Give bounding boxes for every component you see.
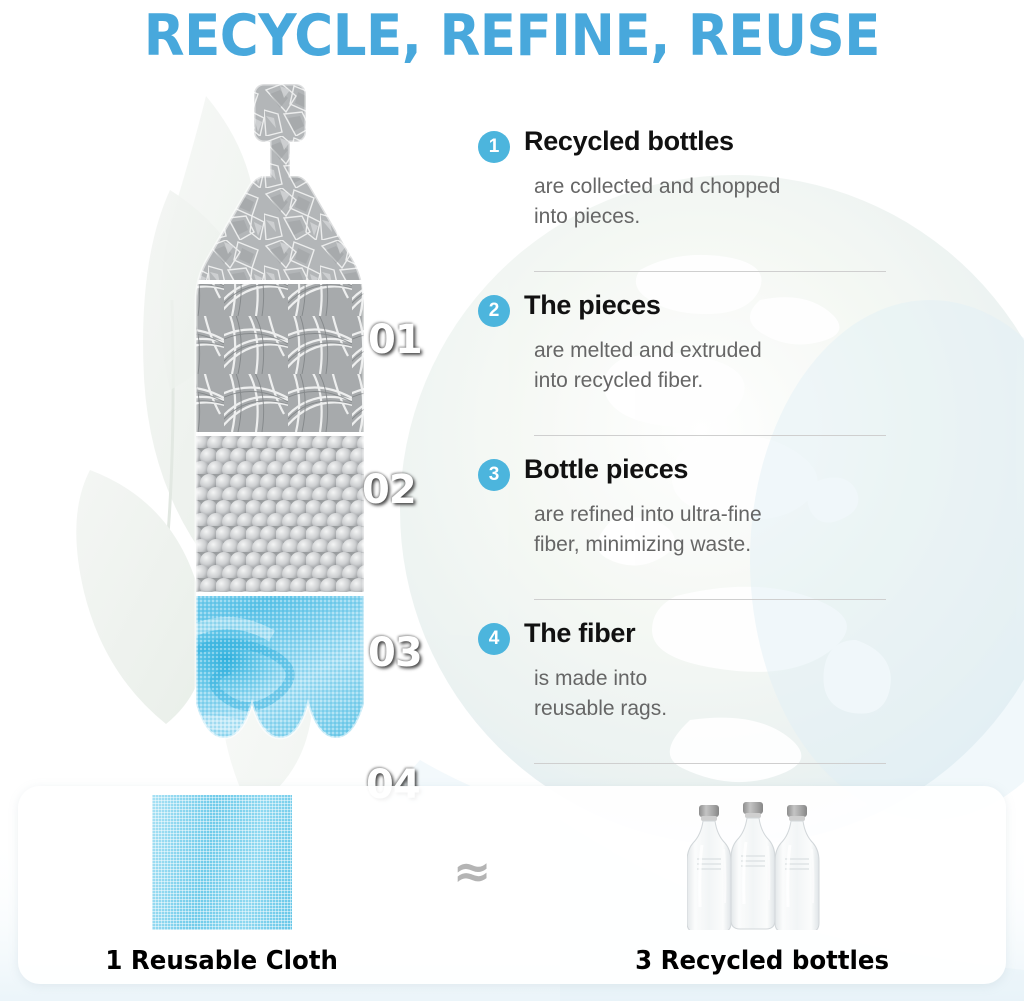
cloth-column: 1 Reusable Cloth [72,795,372,976]
step-title-4: The fiber [524,618,635,649]
step-item-3: 3 Bottle pieces are refined into ultra-f… [478,454,908,618]
step-badge-3: 3 [478,459,510,491]
step-divider-1 [534,271,886,272]
step-badge-4: 4 [478,623,510,655]
bottles-column: 3 Recycled bottles [572,795,952,976]
recycled-bottles-group [687,795,837,930]
segment-number-02: 02 [362,467,416,513]
step-item-2: 2 The pieces are melted and extruded int… [478,290,908,454]
bottles-label: 3 Recycled bottles [635,946,889,976]
step-badge-2: 2 [478,295,510,327]
step-header: 1 Recycled bottles [478,126,908,163]
step-item-4: 4 The fiber is made into reusable rags. [478,618,908,782]
page-title-text: RECYCLE, REFINE, REUSE [144,8,880,65]
step-title-3: Bottle pieces [524,454,688,485]
recycled-bottle-process-diagram: 01 02 03 04 [96,84,416,784]
step-item-1: 1 Recycled bottles are collected and cho… [478,126,908,290]
step-divider-2 [534,435,886,436]
segment-number-03: 03 [368,630,422,676]
step-body-2: are melted and extruded into recycled fi… [534,336,908,396]
process-steps-list: 1 Recycled bottles are collected and cho… [478,126,908,782]
step-body-4: is made into reusable rags. [534,664,908,724]
reusable-cloth-swatch [152,795,292,930]
step-header: 3 Bottle pieces [478,454,908,491]
step-divider-4 [534,763,886,764]
step-header: 2 The pieces [478,290,908,327]
page-title: RECYCLE, REFINE, REUSE [0,0,1024,72]
cloth-label: 1 Reusable Cloth [106,946,339,976]
segment-number-01: 01 [368,317,422,363]
step-body-3: are refined into ultra-fine fiber, minim… [534,500,908,560]
step-badge-1: 1 [478,131,510,163]
step-header: 4 The fiber [478,618,908,655]
step-body-1: are collected and chopped into pieces. [534,172,908,232]
equivalence-card: 1 Reusable Cloth ≈ [18,786,1006,984]
step-divider-3 [534,599,886,600]
step-title-1: Recycled bottles [524,126,734,157]
approximately-equal-icon: ≈ [453,844,492,898]
step-title-2: The pieces [524,290,661,321]
